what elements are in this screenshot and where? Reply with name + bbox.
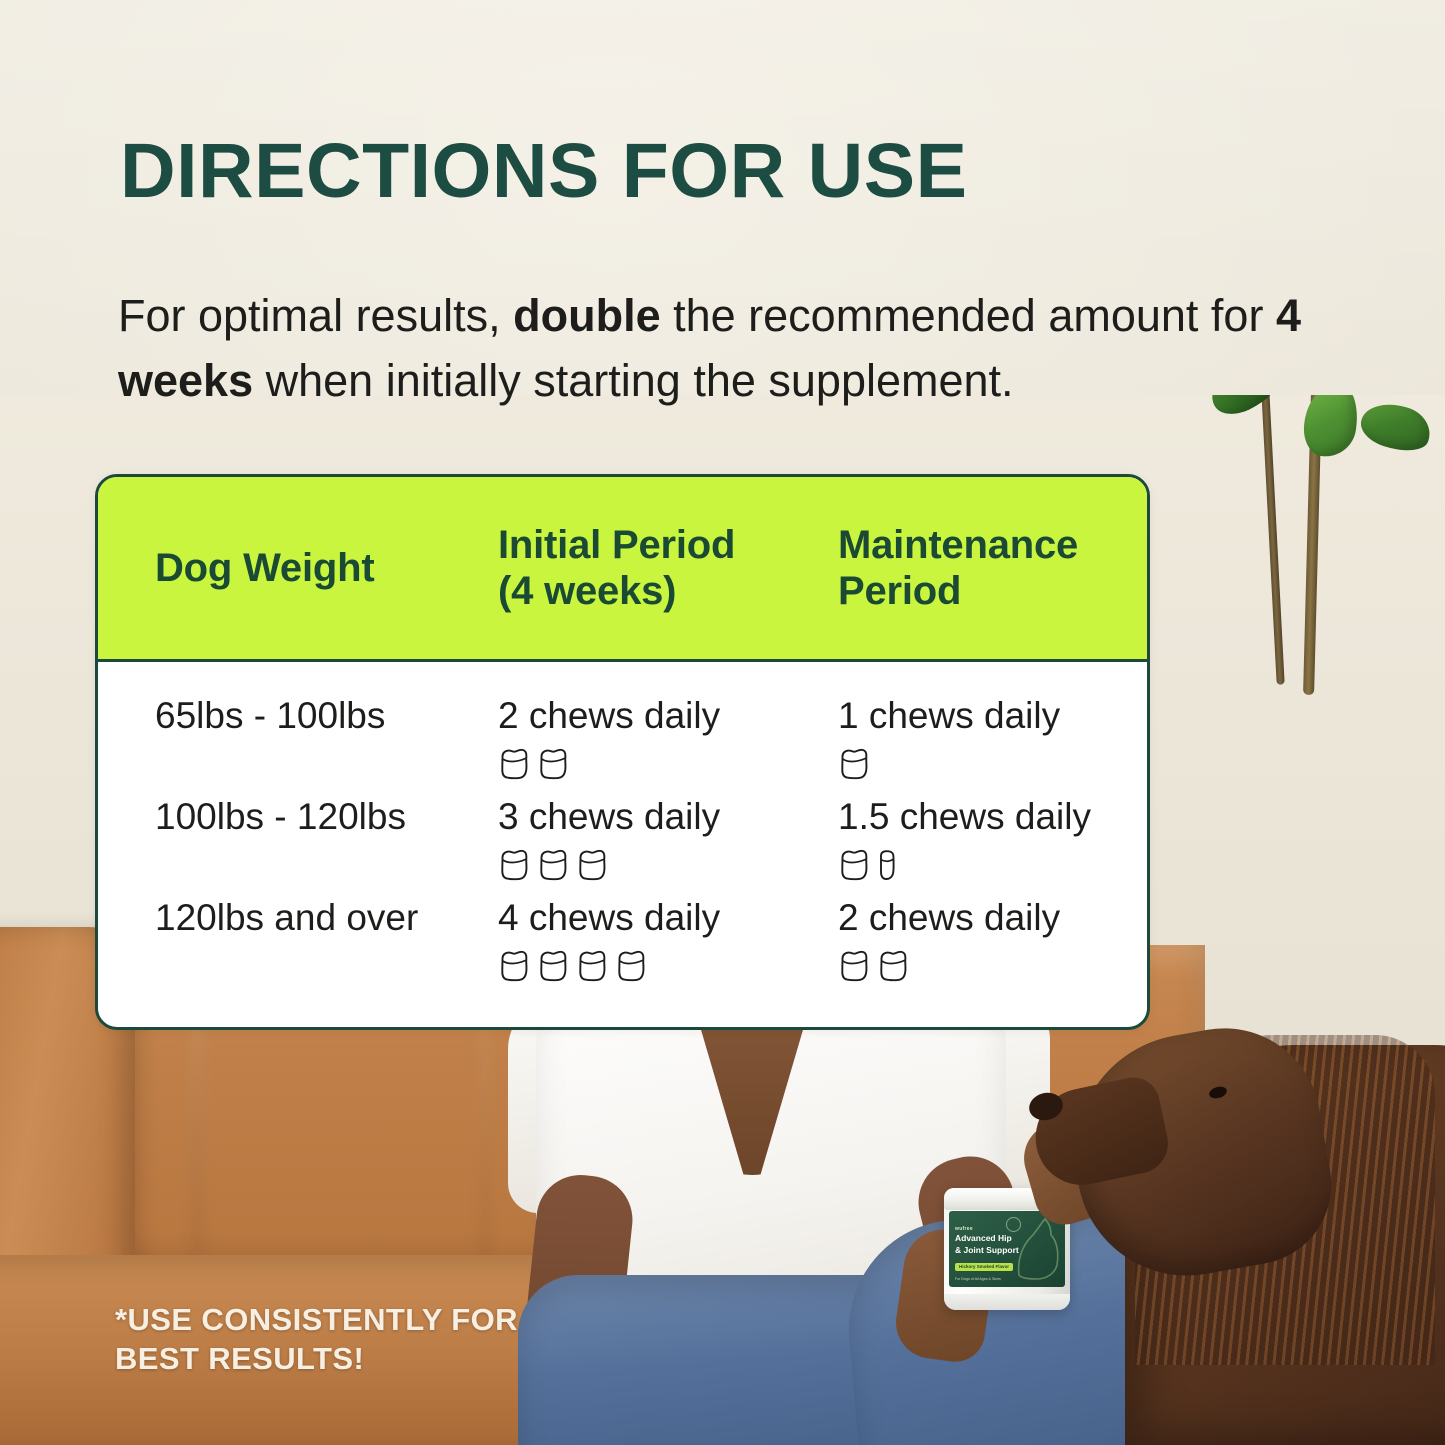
jar-flavor-badge: Hickory Smoked Flavor <box>955 1263 1013 1271</box>
dosage-table: Dog Weight Initial Period (4 weeks) Main… <box>95 474 1150 1030</box>
cell-dog-weight: 100lbs - 120lbs <box>155 797 498 837</box>
chew-icon-half <box>877 848 897 882</box>
footnote-line-1: *USE CONSISTENTLY FOR <box>115 1300 518 1339</box>
subtitle-part-3: when initially starting the supplement. <box>253 355 1013 406</box>
chew-icon <box>838 747 870 781</box>
infographic-canvas: wufree Advanced Hip & Joint Support Hick… <box>0 0 1445 1445</box>
plant-trunk-secondary <box>1245 395 1284 685</box>
cell-dog-weight: 120lbs and over <box>155 898 498 938</box>
footnote: *USE CONSISTENTLY FOR BEST RESULTS! <box>115 1300 518 1378</box>
houseplant <box>1165 395 1445 755</box>
table-row: 65lbs - 100lbs2 chews daily1 chews daily <box>155 696 1147 797</box>
chew-icon <box>615 949 647 983</box>
footnote-line-2: BEST RESULTS! <box>115 1339 518 1378</box>
table-row: 120lbs and over4 chews daily2 chews dail… <box>155 898 1147 999</box>
chew-icon <box>537 747 569 781</box>
dog <box>1035 975 1445 1445</box>
chew-icon <box>537 949 569 983</box>
subtitle-bold-double: double <box>513 290 660 341</box>
cell-initial-dose: 2 chews daily <box>498 696 838 736</box>
column-header-dog-weight: Dog Weight <box>155 545 498 591</box>
table-header-row: Dog Weight Initial Period (4 weeks) Main… <box>98 477 1147 662</box>
chew-icon <box>576 848 608 882</box>
jar-seal-icon <box>1006 1217 1021 1232</box>
column-header-maintenance-line1: Maintenance <box>838 522 1147 568</box>
cell-initial-dose: 4 chews daily <box>498 898 838 938</box>
column-header-maintenance-line2: Period <box>838 568 1147 614</box>
cell-maintenance-dose: 1 chews daily <box>838 696 1147 736</box>
chew-icon <box>498 747 530 781</box>
cell-maintenance-dose: 1.5 chews daily <box>838 797 1147 837</box>
chew-icon <box>498 848 530 882</box>
cell-initial-dose: 3 chews daily <box>498 797 838 837</box>
chew-icons-maintenance <box>838 747 1147 781</box>
chew-icons-maintenance <box>838 848 1147 882</box>
subtitle-part-1: For optimal results, <box>118 290 513 341</box>
page-title: DIRECTIONS FOR USE <box>120 130 968 212</box>
column-header-initial-period: Initial Period (4 weeks) <box>498 522 838 614</box>
table-row: 100lbs - 120lbs3 chews daily1.5 chews da… <box>155 797 1147 898</box>
chew-icon <box>537 848 569 882</box>
chew-icon <box>877 949 909 983</box>
chew-icon <box>838 848 870 882</box>
chew-icons-initial <box>498 848 838 882</box>
chew-icon <box>498 949 530 983</box>
column-header-maintenance-period: Maintenance Period <box>838 522 1147 614</box>
chew-icon <box>576 949 608 983</box>
chew-icons-initial <box>498 949 838 983</box>
table-body: 65lbs - 100lbs2 chews daily1 chews daily… <box>98 662 1147 999</box>
cell-maintenance-dose: 2 chews daily <box>838 898 1147 938</box>
column-header-initial-line1: Initial Period <box>498 522 838 568</box>
subtitle-part-2: the recommended amount for <box>661 290 1276 341</box>
cell-dog-weight: 65lbs - 100lbs <box>155 696 498 736</box>
chew-icon <box>838 949 870 983</box>
subtitle: For optimal results, double the recommen… <box>118 283 1333 413</box>
column-header-initial-line2: (4 weeks) <box>498 568 838 614</box>
chew-icons-initial <box>498 747 838 781</box>
